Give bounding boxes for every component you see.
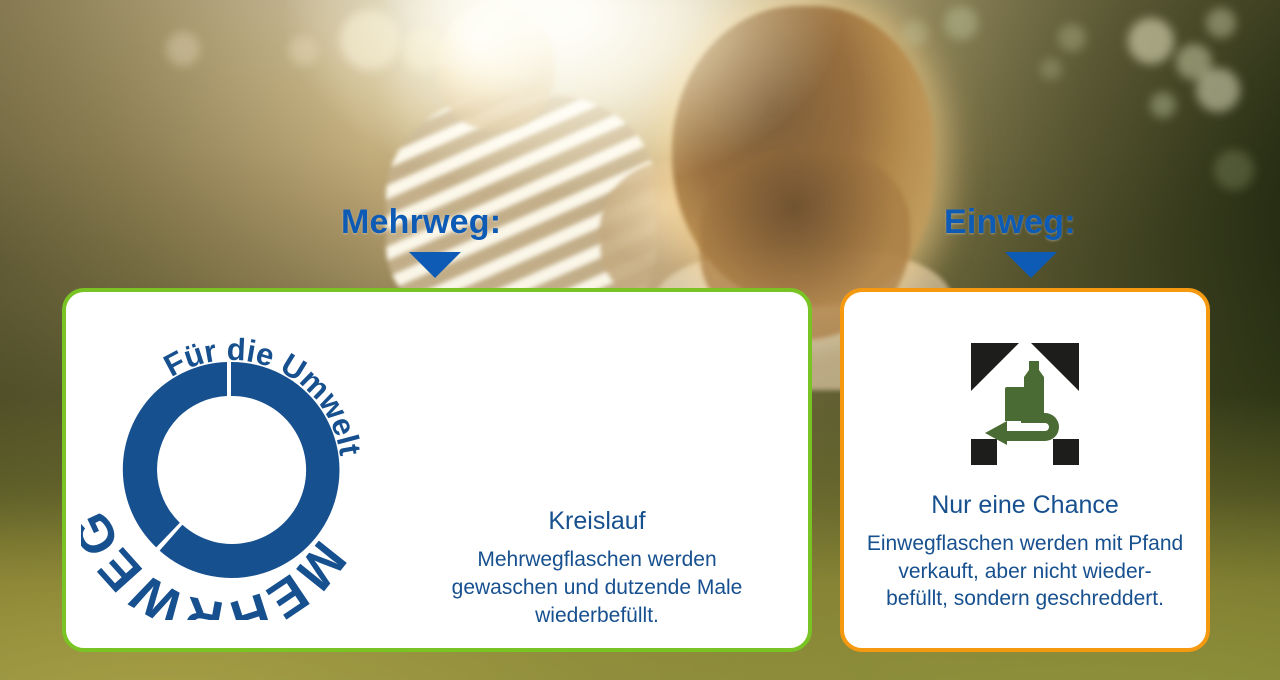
einweg-card-body: Einwegflaschen werden mit Pfand verkauft… (867, 530, 1183, 614)
bokeh-circle (1214, 150, 1254, 190)
mehrweg-logo-icon: Für die Umwelt MEHRWEG (81, 320, 381, 620)
bokeh-circle (288, 36, 318, 66)
einweg-body-line: befüllt, sondern geschreddert. (867, 585, 1183, 613)
einweg-card-title: Nur eine Chance (867, 491, 1183, 520)
einweg-pfandflasche-icon (963, 331, 1087, 481)
bokeh-circle (1150, 92, 1176, 118)
mehrweg-logo-container: Für die Umwelt MEHRWEG (66, 320, 396, 620)
einweg-text-block: Nur eine Chance Einwegflaschen werden mi… (861, 491, 1189, 614)
mehrweg-card-title: Kreislauf (548, 507, 645, 536)
triangle-down-icon (409, 252, 461, 278)
bokeh-circle (902, 20, 928, 46)
bokeh-circle (1058, 24, 1086, 52)
einweg-card: Nur eine Chance Einwegflaschen werden mi… (840, 288, 1210, 652)
infographic-stage: Mehrweg: Einweg: (0, 0, 1280, 680)
einweg-body-line: verkauft, aber nicht wieder- (867, 558, 1183, 586)
bokeh-circle (1206, 8, 1236, 38)
bokeh-circle (340, 10, 400, 70)
mehrweg-text-block: Kreislauf Mehrwegflaschen werden gewasch… (396, 292, 808, 648)
bokeh-circle (402, 28, 446, 72)
einweg-label: Einweg: (944, 203, 1076, 242)
einweg-icon-container (963, 321, 1087, 491)
mehrweg-card: Für die Umwelt MEHRWEG Kreislauf Mehrweg… (62, 288, 812, 652)
bokeh-circle (1128, 18, 1174, 64)
mehrweg-card-body: Mehrwegflaschen werden gewaschen und dut… (452, 546, 743, 630)
mehrweg-body-line: Mehrwegflaschen werden (452, 546, 743, 574)
mehrweg-body-line: wiederbefüllt. (452, 602, 743, 630)
mehrweg-label: Mehrweg: (341, 203, 501, 242)
bokeh-circle (944, 6, 978, 40)
einweg-body-line: Einwegflaschen werden mit Pfand (867, 530, 1183, 558)
bokeh-circle (1196, 68, 1240, 112)
bokeh-circle (1040, 58, 1062, 80)
triangle-down-icon (1005, 252, 1057, 278)
mehrweg-body-line: gewaschen und dutzende Male (452, 574, 743, 602)
bokeh-circle (166, 32, 200, 66)
